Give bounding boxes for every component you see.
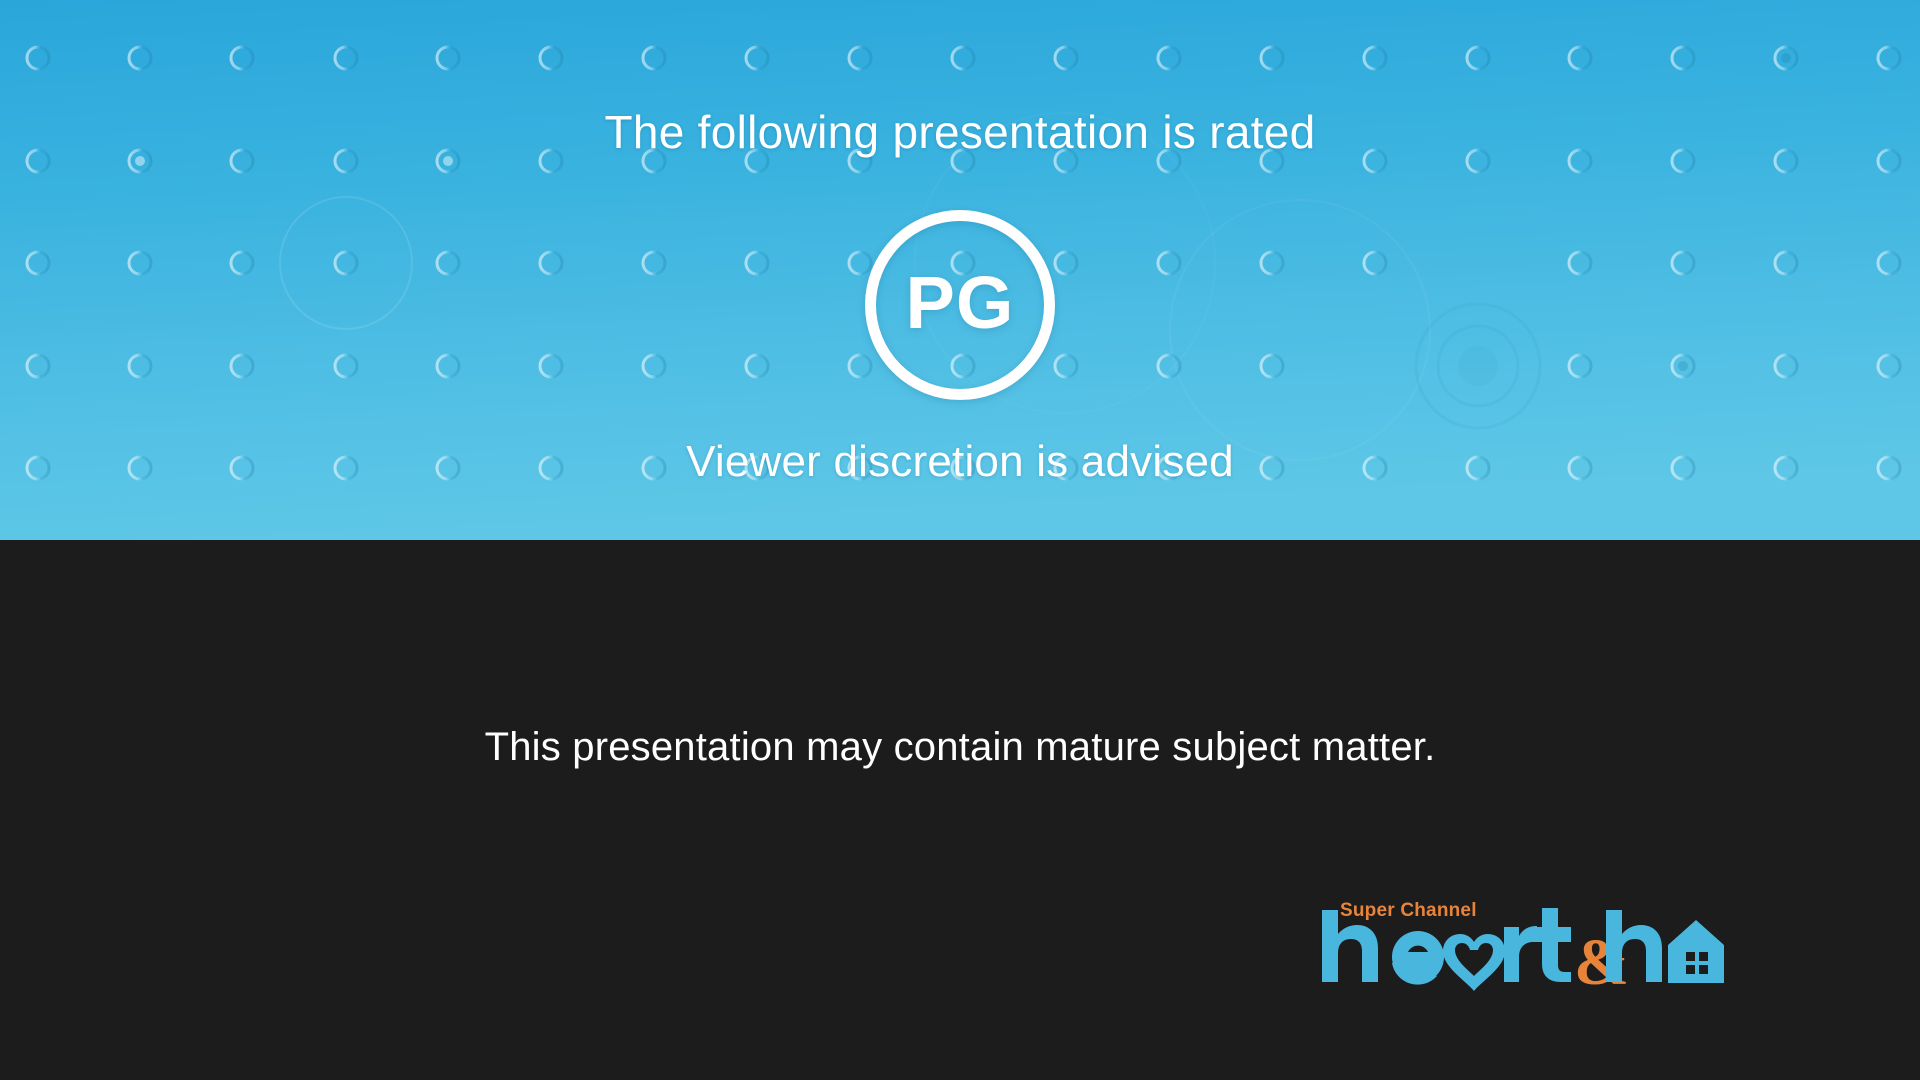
rating-bumper-screen: The following presentation is rated PG V… <box>0 0 1920 1080</box>
logo-heart-icon <box>1443 934 1505 991</box>
rating-headline: The following presentation is rated <box>0 105 1920 159</box>
logo-letter-e <box>1392 931 1444 985</box>
logo-letter-h2 <box>1606 910 1662 982</box>
pg-rating-label: PG <box>906 266 1015 340</box>
rating-panel: The following presentation is rated PG V… <box>0 0 1920 540</box>
pg-rating-badge: PG <box>865 210 1055 400</box>
logo-letter-t <box>1533 908 1571 982</box>
viewer-discretion-text: Viewer discretion is advised <box>0 437 1920 487</box>
logo-tagline: Super Channel <box>1340 900 1477 921</box>
logo-letter-r <box>1504 926 1537 982</box>
dark-notice-panel: This presentation may contain mature sub… <box>0 540 1920 1080</box>
logo-wordmark-home <box>1600 910 1724 983</box>
super-channel-heart-and-home-logo: Super Channel & <box>1300 890 1740 1005</box>
mature-content-notice: This presentation may contain mature sub… <box>0 725 1920 770</box>
logo-house-icon <box>1668 920 1724 983</box>
